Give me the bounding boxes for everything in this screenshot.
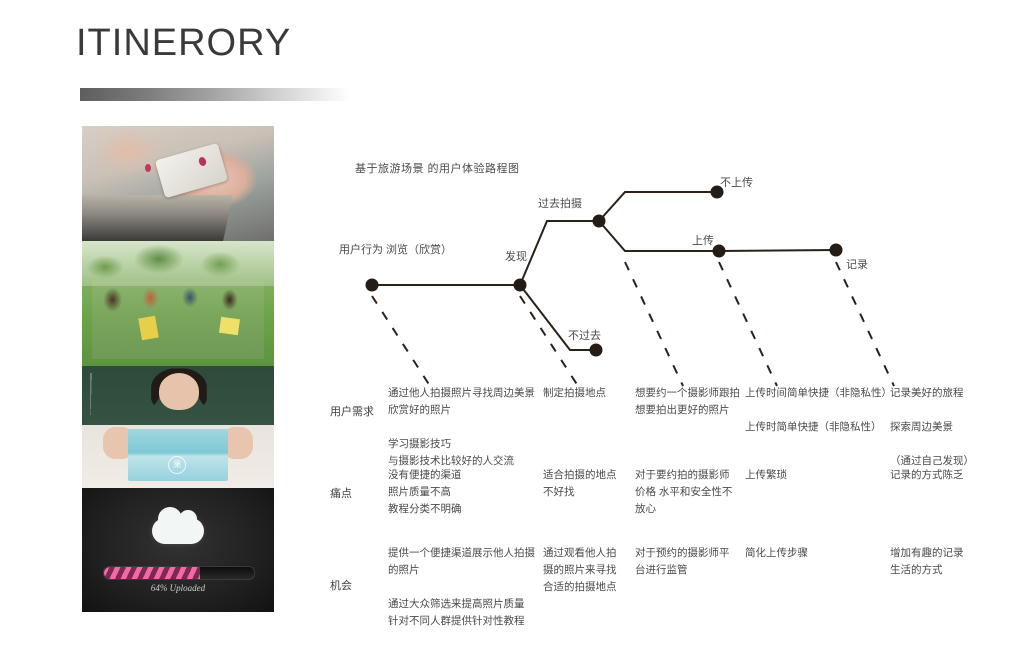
face-shape <box>159 373 199 410</box>
cloud-upload-photo: 64% Uploaded <box>82 488 274 612</box>
node-label-past-shoot: 过去拍摄 <box>538 195 582 211</box>
trees-background-shape <box>82 241 274 286</box>
cell-opportunities-4: 简化上传步骤 <box>745 545 808 562</box>
photo-column: 果 64% Uploaded <box>82 126 274 612</box>
node-not-go[interactable] <box>590 344 603 357</box>
node-browse[interactable] <box>366 279 379 292</box>
cell-opportunities-3: 对于预约的摄影师平 台进行监管 <box>635 545 730 579</box>
node-label-discover: 发现 <box>505 248 527 264</box>
node-past-shoot[interactable] <box>593 215 606 228</box>
node-label-no-upload: 不上传 <box>720 174 753 190</box>
book-shape-1 <box>138 315 159 340</box>
upload-progress-fill <box>104 567 200 579</box>
cell-pain-points-2: 适合拍摄的地点 不好找 <box>543 467 617 501</box>
phone-screen-shape <box>155 143 229 199</box>
node-label-record: 记录 <box>846 256 868 272</box>
cell-user-needs-5: 记录美好的旅程 探索周边美景 （通过自己发现） <box>890 385 974 470</box>
journey-map-svg <box>325 150 1005 400</box>
cell-opportunities-1: 提供一个便捷渠道展示他人拍摄 的照片 通过大众筛选来提高照片质量 针对不同人群提… <box>388 545 535 630</box>
cell-user-needs-4: 上传时间简单快捷（非隐私性） 上传时简单快捷（非隐私性） <box>745 385 892 436</box>
cell-user-needs-3: 想要约一个摄影师跟拍 想要拍出更好的照片 <box>635 385 740 419</box>
stage-label-user-behavior: 用户行为 浏览（欣赏） <box>339 243 452 258</box>
girl-blackboard-bag-photo: 果 <box>82 366 274 488</box>
separator-dash-1 <box>372 296 430 386</box>
segment-discover-to-past-shoot <box>520 221 599 285</box>
fingernail-shape-2 <box>145 164 151 172</box>
row-label-opportunities: 机会 <box>330 577 388 593</box>
row-label-pain-points: 痛点 <box>330 485 388 501</box>
cell-pain-points-4: 上传繁琐 <box>745 467 787 484</box>
title-gradient-bar <box>80 88 350 101</box>
laptop-shape <box>82 195 233 241</box>
cell-pain-points-3: 对于要约拍的摄影师 价格 水平和安全性不 放心 <box>635 467 732 518</box>
node-record[interactable] <box>830 244 843 257</box>
cell-pain-points-5: 记录的方式陈乏 <box>890 467 964 484</box>
cell-user-needs-1: 通过他人拍摄照片寻找周边美景 欣赏好的照片 学习摄影技巧 与摄影技术比较好的人交… <box>388 385 535 470</box>
cell-opportunities-5: 增加有趣的记录 生活的方式 <box>890 545 964 579</box>
upload-progress-caption: 64% Uploaded <box>82 583 274 593</box>
node-discover[interactable] <box>514 279 527 292</box>
node-label-not-go: 不过去 <box>568 327 601 343</box>
cell-opportunities-2: 通过观看他人拍 摄的照片来寻找 合适的拍摄地点 <box>543 545 617 596</box>
hands-phone-laptop-photo <box>82 126 274 241</box>
book-shape-2 <box>219 316 240 334</box>
segment-past-shoot-to-no-upload <box>599 192 717 221</box>
node-upload[interactable] <box>713 245 726 258</box>
node-label-upload: 上传 <box>692 232 714 248</box>
page-title: ITINERORY <box>76 22 291 65</box>
students-on-grass-photo <box>82 241 274 366</box>
cell-user-needs-2: 制定拍摄地点 <box>543 385 606 402</box>
segment-upload-to-record <box>719 250 836 251</box>
cloud-icon <box>152 518 204 544</box>
separator-dash-4 <box>719 262 777 386</box>
upload-progress-track <box>103 566 255 580</box>
row-label-user-needs: 用户需求 <box>330 403 388 419</box>
separator-dash-5 <box>836 262 894 386</box>
cell-pain-points-1: 没有便捷的渠道 照片质量不高 教程分类不明确 <box>388 467 462 518</box>
separator-dash-3 <box>625 262 683 386</box>
